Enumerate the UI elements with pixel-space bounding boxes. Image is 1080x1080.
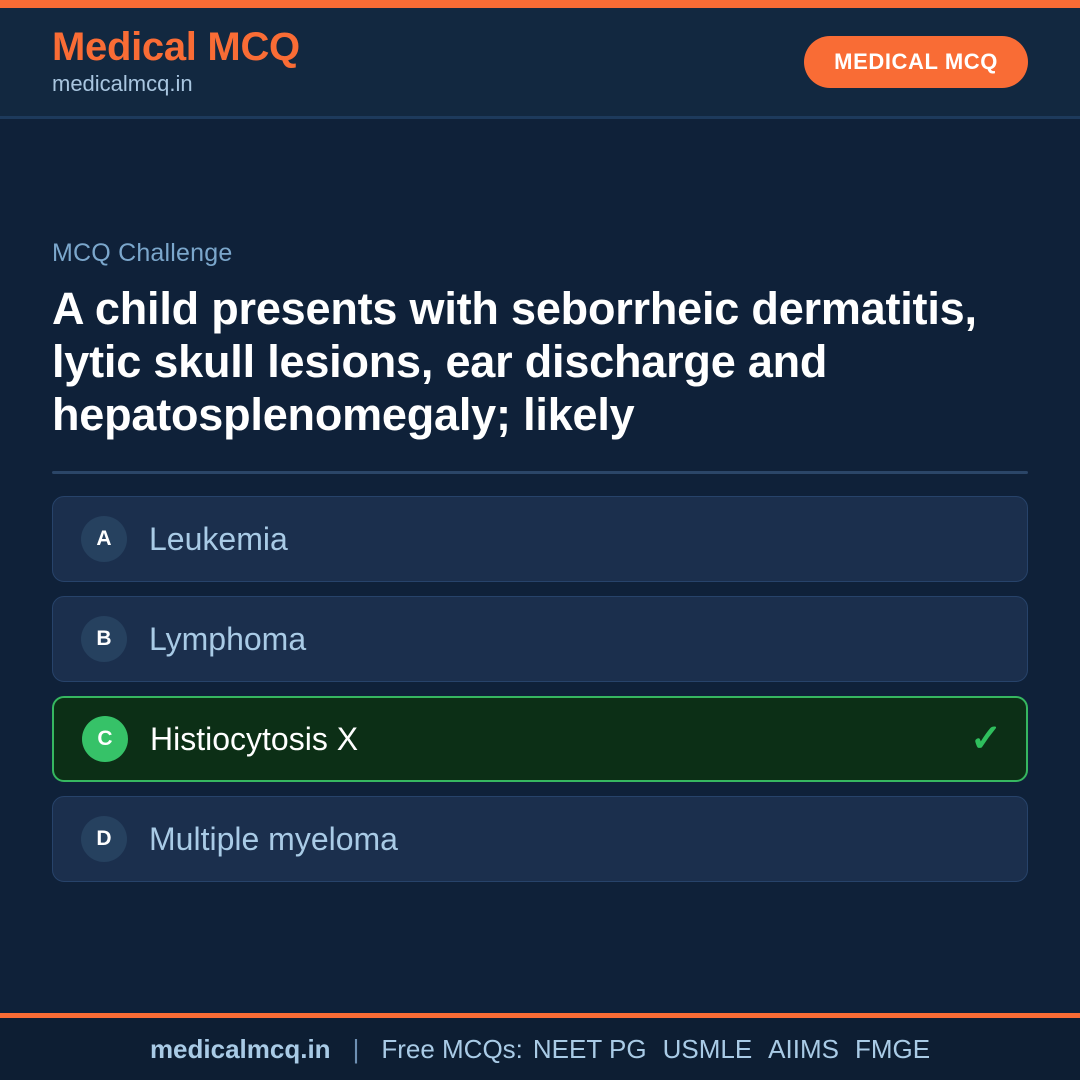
top-accent-bar (0, 0, 1080, 8)
option-label: Leukemia (149, 522, 288, 557)
option-label: Histiocytosis X (150, 722, 358, 757)
option-letter-badge: A (81, 516, 127, 562)
footer-exam-neet-pg: NEET PG (533, 1034, 647, 1065)
option-d[interactable]: D Multiple myeloma ✓ (52, 796, 1028, 882)
footer-exam-aiims: AIIMS (768, 1034, 839, 1065)
brand-title: Medical MCQ (52, 26, 300, 68)
options-list: A Leukemia ✓ B Lymphoma ✓ C Histiocytosi… (52, 496, 1028, 882)
option-b[interactable]: B Lymphoma ✓ (52, 596, 1028, 682)
option-c[interactable]: C Histiocytosis X ✓ (52, 696, 1028, 782)
question-text: A child presents with seborrheic dermati… (52, 282, 1028, 441)
option-letter-badge: B (81, 616, 127, 662)
option-label: Multiple myeloma (149, 822, 398, 857)
option-label: Lymphoma (149, 622, 306, 657)
brand-subtitle: medicalmcq.in (52, 70, 300, 99)
footer-exam-fmge: FMGE (855, 1034, 930, 1065)
main-content: MCQ Challenge A child presents with sebo… (0, 119, 1080, 1013)
option-a[interactable]: A Leukemia ✓ (52, 496, 1028, 582)
footer-site-link[interactable]: medicalmcq.in (150, 1034, 331, 1065)
page-header: Medical MCQ medicalmcq.in MEDICAL MCQ (0, 8, 1080, 119)
option-letter-badge: C (82, 716, 128, 762)
eyebrow-label: MCQ Challenge (52, 239, 1028, 268)
footer-label: Free MCQs: (381, 1034, 523, 1065)
check-icon: ✓ (970, 720, 1002, 758)
footer-separator: | (353, 1034, 360, 1065)
option-letter-badge: D (81, 816, 127, 862)
footer-content: medicalmcq.in | Free MCQs: NEET PG USMLE… (150, 1034, 930, 1065)
page-footer: medicalmcq.in | Free MCQs: NEET PG USMLE… (0, 1013, 1080, 1080)
question-divider (52, 471, 1028, 474)
brand: Medical MCQ medicalmcq.in (52, 26, 300, 99)
mcq-card: Medical MCQ medicalmcq.in MEDICAL MCQ MC… (0, 0, 1080, 1080)
footer-exam-usmle: USMLE (663, 1034, 753, 1065)
header-badge: MEDICAL MCQ (804, 36, 1028, 88)
